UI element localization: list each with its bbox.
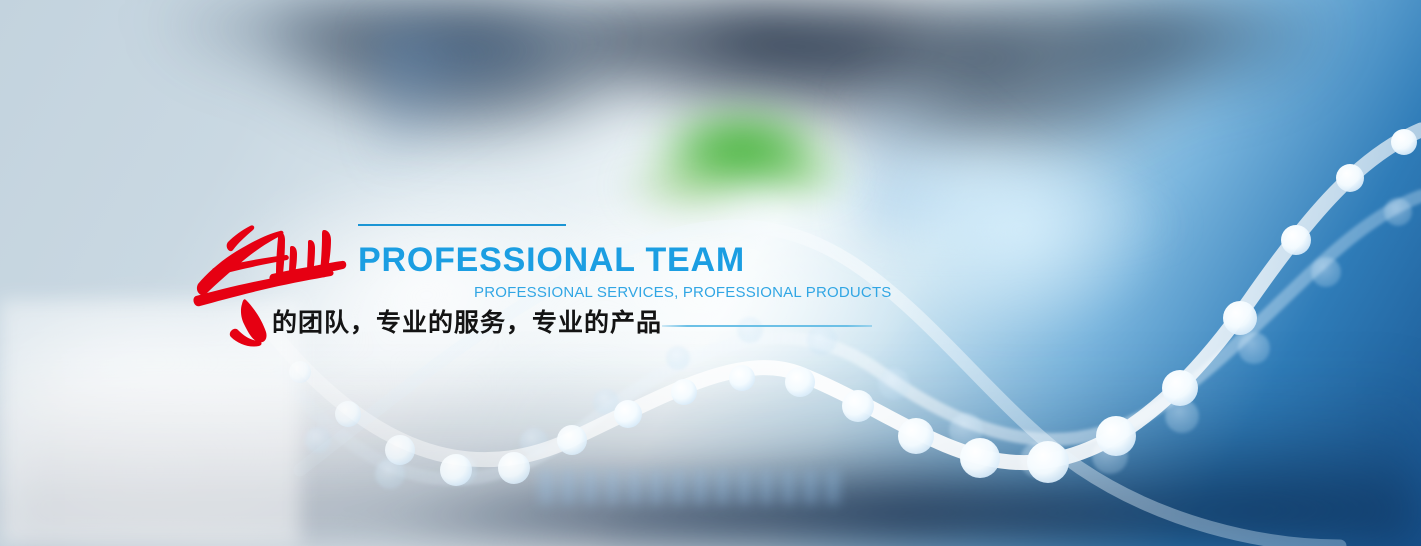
subheadline: PROFESSIONAL SERVICES, PROFESSIONAL PROD… xyxy=(474,285,892,300)
decorative-rule-top xyxy=(358,224,566,226)
hero-banner: PROFESSIONAL TEAM PROFESSIONAL SERVICES,… xyxy=(0,0,1421,546)
banner-text-block: PROFESSIONAL TEAM PROFESSIONAL SERVICES,… xyxy=(0,0,1421,546)
tagline-chinese: 的团队，专业的服务，专业的产品 xyxy=(272,308,662,338)
headline: PROFESSIONAL TEAM xyxy=(358,243,745,277)
decorative-rule-bottom xyxy=(662,325,872,327)
